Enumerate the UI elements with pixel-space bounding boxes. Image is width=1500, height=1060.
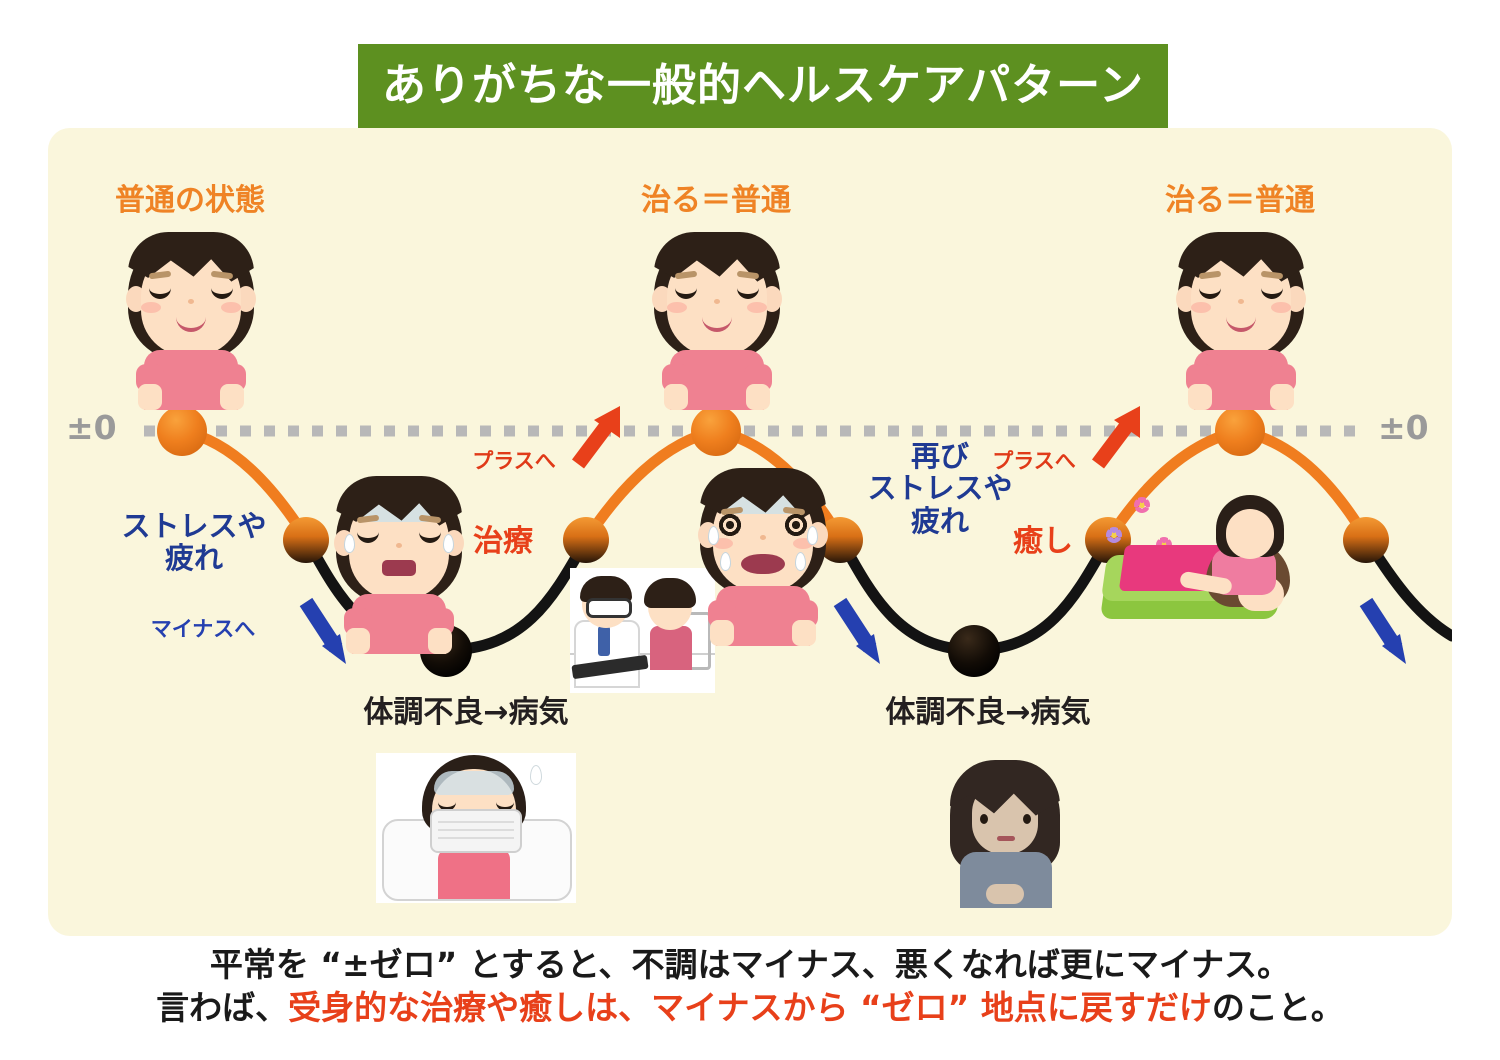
pale-forehead (434, 771, 514, 795)
decline-label-1: ストレスや 疲れ (121, 510, 266, 575)
patient-body (650, 626, 692, 670)
recovery-label-2: 癒し (1013, 525, 1073, 559)
caption-line2-highlight: 受身的な治療や癒しは、マイナスから “ゼロ” 地点に戻すだけ (288, 988, 1212, 1027)
face-mask (430, 809, 522, 853)
illustration-massage (1100, 493, 1290, 633)
arm-right (220, 384, 244, 410)
diagram-panel: ±0 ±0 普通の状態 治る＝普通 治る＝普通 ストレスや 疲れ 再び ストレス… (48, 128, 1452, 936)
nose (1238, 299, 1244, 304)
node-normal-2[interactable] (691, 406, 741, 456)
illustration-happy-girl-2 (642, 224, 792, 409)
minus-label-1: マイナスへ (151, 618, 256, 642)
sweat-drop (795, 552, 806, 571)
pajama (438, 849, 510, 899)
arm-right (428, 628, 452, 654)
illustration-depressed (928, 756, 1083, 906)
caption-line2-suffix: のこと。 (1212, 988, 1344, 1027)
arm-left (346, 628, 370, 654)
hands (986, 884, 1024, 904)
arm-right (1270, 384, 1294, 410)
illustration-happy-girl-3 (1166, 224, 1316, 409)
peak-label-3: 治る＝普通 (1165, 184, 1315, 218)
cheek-left (1191, 302, 1211, 313)
trough-label-1: 体調不良→病気 (363, 696, 568, 730)
plus-label-1: プラスへ (472, 450, 556, 474)
doctor-glasses (586, 598, 632, 618)
arm-left (664, 384, 688, 410)
eye-right-spiral (783, 512, 809, 538)
sweat-drop (443, 534, 454, 553)
sweat-drop (530, 765, 542, 785)
nose (188, 299, 194, 304)
nose (714, 299, 720, 304)
nose (760, 535, 766, 540)
page-title: ありがちな一般的ヘルスケアパターン (382, 64, 1144, 108)
illustration-happy-girl-1 (116, 224, 266, 409)
arm-right (746, 384, 770, 410)
sweat-drop (708, 526, 719, 545)
minus-arrow-2-icon (840, 602, 880, 664)
cheek-right (221, 302, 241, 313)
cheek-right (747, 302, 767, 313)
node-normal-3[interactable] (1215, 406, 1265, 456)
minus-arrow-3-icon (1366, 602, 1406, 664)
therapist-face (1226, 509, 1274, 559)
sweat-drop (344, 534, 355, 553)
cheek-right (1271, 302, 1291, 313)
caption-line-2: 言わば、受身的な治療や癒しは、マイナスから “ゼロ” 地点に戻すだけのこと。 (0, 987, 1500, 1030)
caption-block: 平常を “±ゼロ” とすると、不調はマイナス、悪くなれば更にマイナス。 言わば、… (0, 944, 1500, 1030)
baseline-label-left: ±0 (66, 410, 117, 447)
caption-line2-prefix: 言わば、 (156, 988, 288, 1027)
plus-label-2: プラスへ (992, 450, 1076, 474)
decline-label-2: 再び ストレスや 疲れ (867, 440, 1012, 537)
eye-right (1023, 814, 1031, 824)
mouth (741, 554, 785, 574)
arm-left (710, 620, 734, 646)
node-normal-1[interactable] (157, 406, 207, 456)
cheek-left (667, 302, 687, 313)
peak-label-2: 治る＝普通 (641, 184, 791, 218)
nose (396, 543, 402, 548)
node-decline-1[interactable] (283, 517, 329, 563)
node-trough-2[interactable] (948, 625, 1000, 677)
baseline-label-right: ±0 (1378, 410, 1429, 447)
mouth (382, 560, 416, 576)
eye-left (980, 814, 988, 824)
flower-icon (1134, 497, 1150, 513)
caption-line-1: 平常を “±ゼロ” とすると、不調はマイナス、悪くなれば更にマイナス。 (0, 944, 1500, 987)
illustration-tired-girl-1 (324, 468, 474, 653)
arm-right (792, 620, 816, 646)
node-recover-1[interactable] (563, 517, 609, 563)
flower-icon (1106, 527, 1122, 543)
cheek-left (141, 302, 161, 313)
doctor-tie (598, 626, 610, 656)
peak-label-1: 普通の状態 (115, 184, 265, 218)
trough-label-2: 体調不良→病気 (885, 696, 1090, 730)
mouth (997, 836, 1015, 841)
eye-left-spiral (717, 512, 743, 538)
recovery-label-1: 治療 (473, 525, 533, 559)
illustration-dizzy-girl (688, 460, 838, 645)
sweat-drop (807, 526, 818, 545)
node-decline-3[interactable] (1343, 517, 1389, 563)
title-banner: ありがちな一般的ヘルスケアパターン (358, 44, 1168, 128)
sweat-drop (720, 552, 731, 571)
arm-left (138, 384, 162, 410)
illustration-sick-bed (376, 753, 576, 903)
arm-left (1188, 384, 1212, 410)
